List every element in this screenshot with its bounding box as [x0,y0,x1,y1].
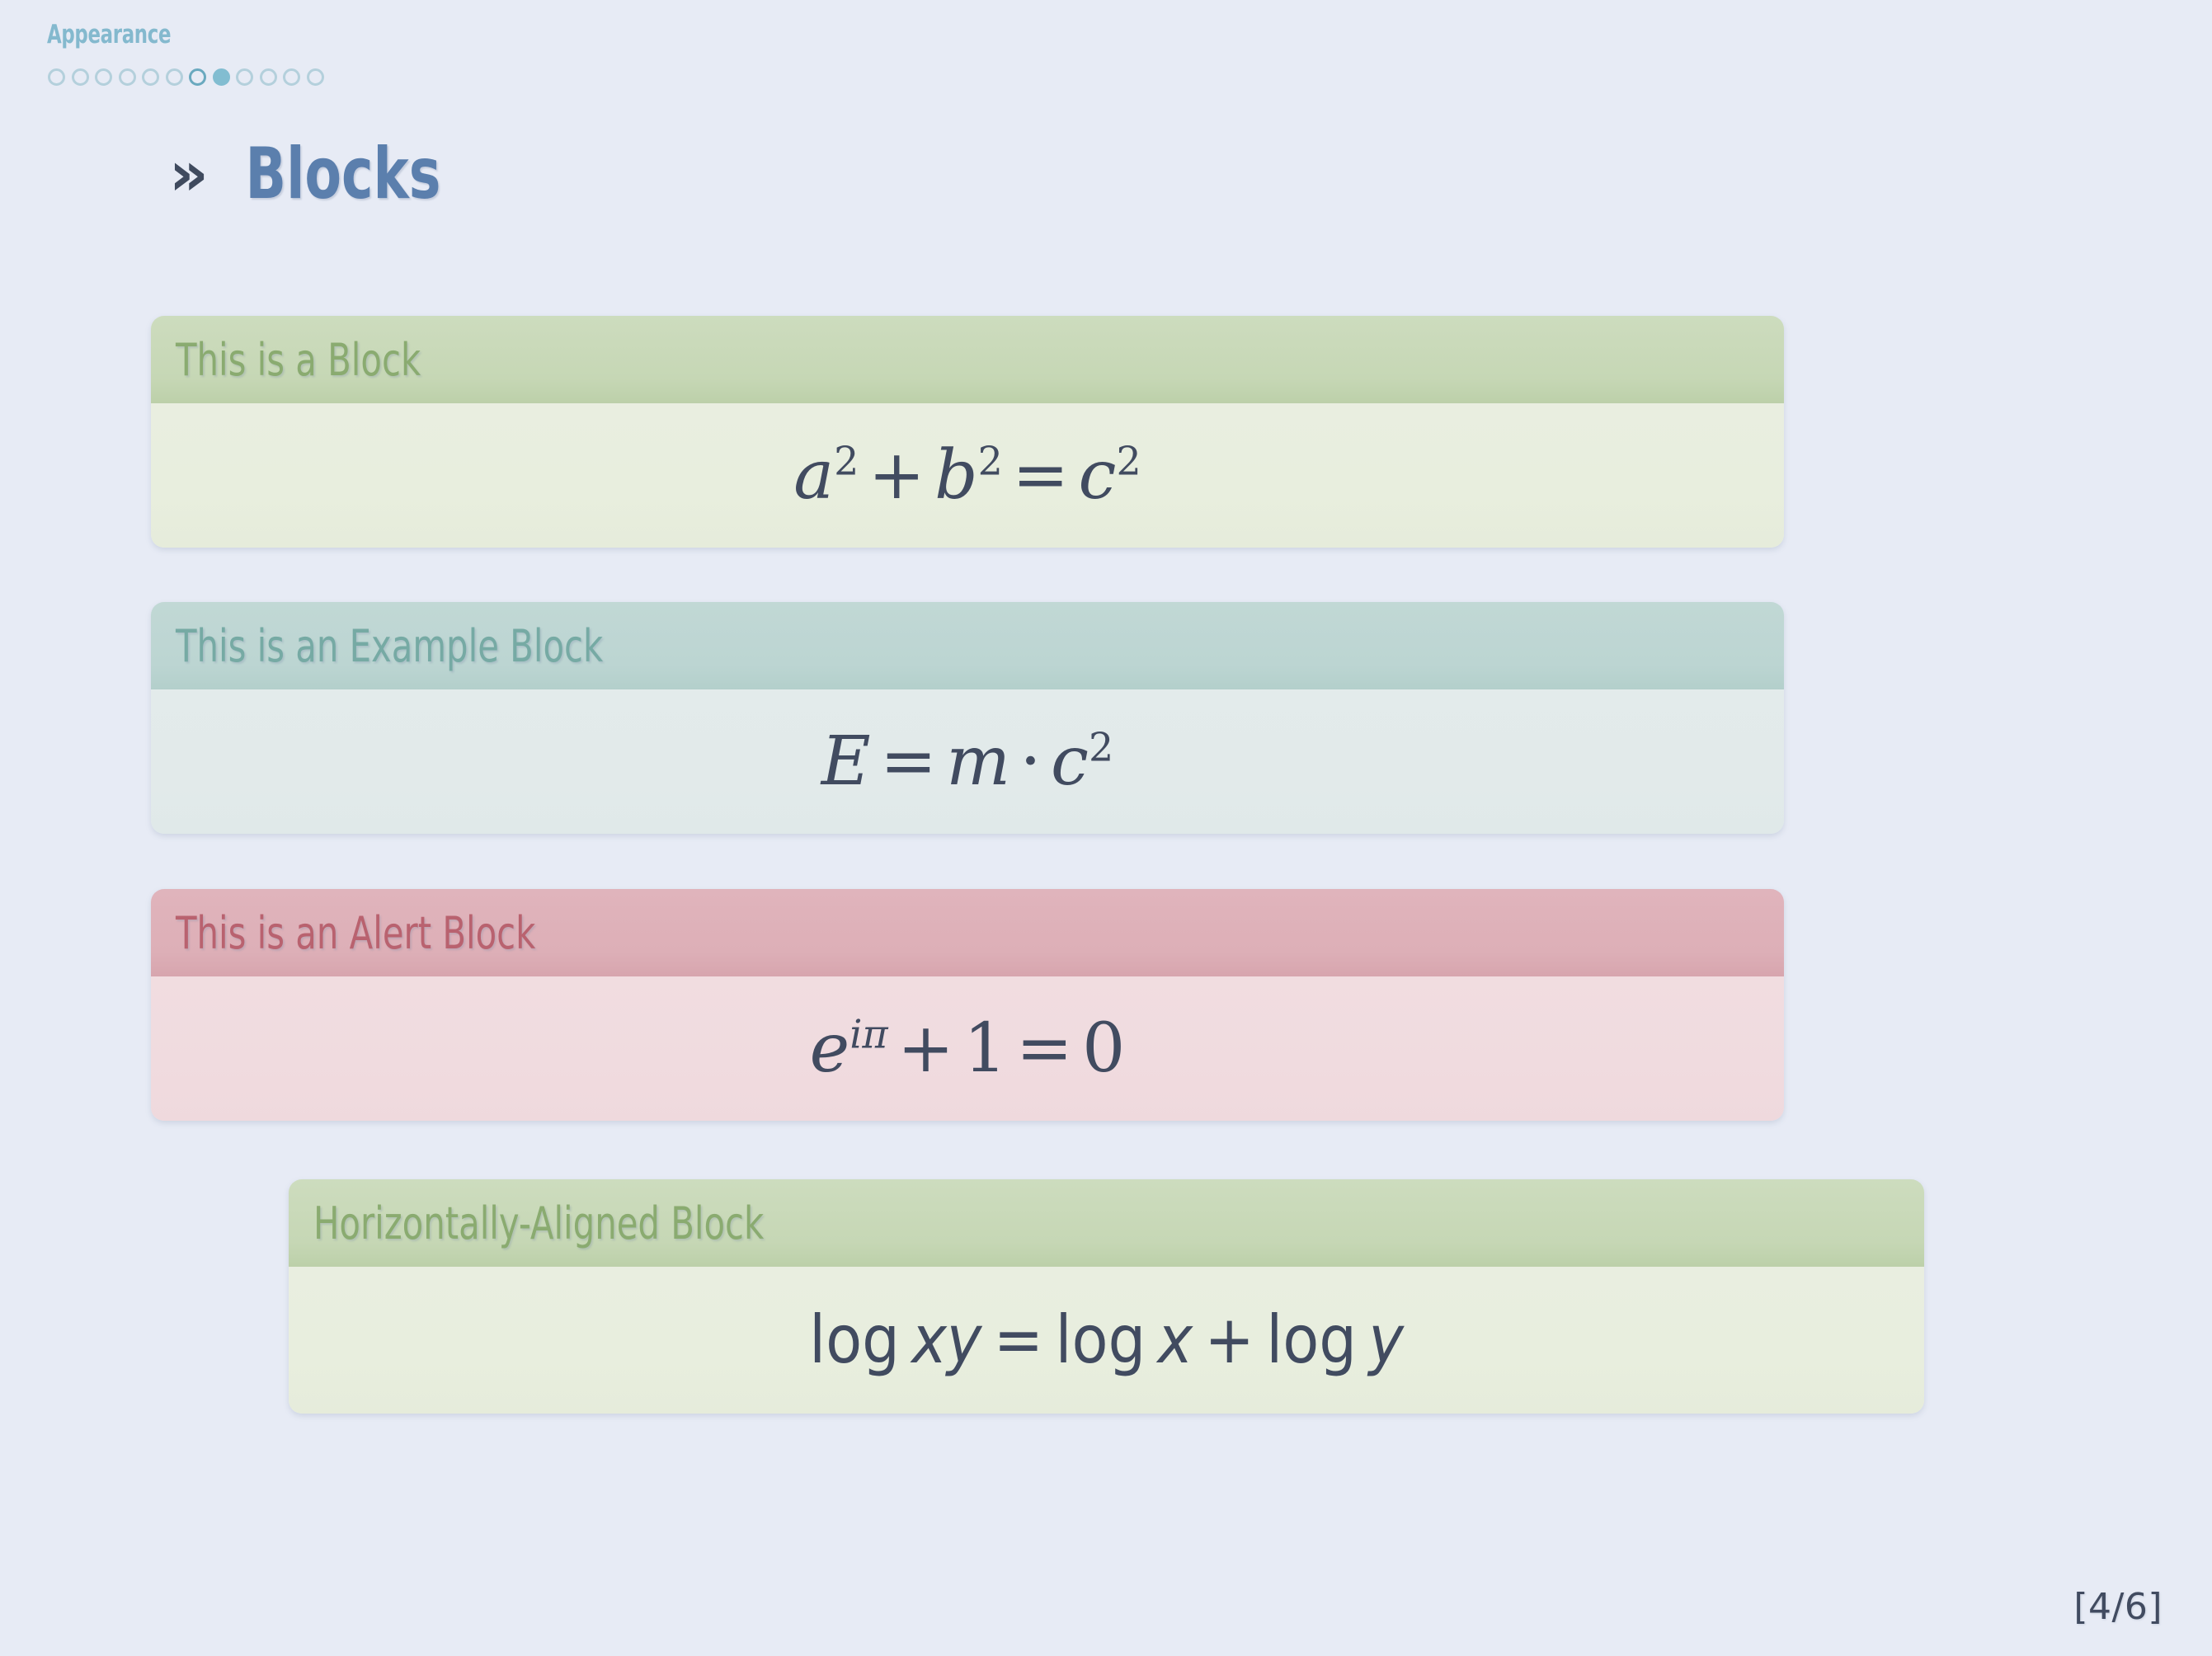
alert-block: This is an Alert Block eiπ+1=0 [151,889,1784,1121]
standard-block-title: This is a Block [151,316,1784,403]
nav-dot-7[interactable] [189,68,206,86]
example-block-title-text: This is an Example Block [176,624,603,669]
standard-block-body: a2+b2=c2 [151,403,1784,548]
example-block-title: This is an Example Block [151,602,1784,689]
alert-block-title: This is an Alert Block [151,889,1784,976]
standard-block-title-text: This is a Block [176,338,421,383]
nav-dot-11[interactable] [283,68,300,86]
alert-block-title-text: This is an Alert Block [176,911,535,956]
nav-dot-10[interactable] [260,68,277,86]
formula-logarithm-product: log xy=log x+log y [809,1307,1404,1373]
nav-dot-9[interactable] [236,68,253,86]
nav-dot-3[interactable] [95,68,112,86]
nav-dot-6[interactable] [166,68,183,86]
formula-pythagorean: a2+b2=c2 [793,442,1141,510]
nav-dot-1[interactable] [48,68,65,86]
alert-block-body: eiπ+1=0 [151,976,1784,1121]
formula-euler-identity: eiπ+1=0 [810,1015,1126,1083]
nav-dot-8-current[interactable] [213,68,230,86]
horizontally-aligned-block-title-text: Horizontally-Aligned Block [313,1202,764,1246]
horizontally-aligned-block: Horizontally-Aligned Block log xy=log x+… [289,1179,1924,1414]
nav-dot-4[interactable] [119,68,136,86]
frame-title: » Blocks [169,139,459,209]
slide-canvas: Appearance » Blocks This is a Block a2+b… [0,0,2212,1656]
nav-dot-12[interactable] [307,68,324,86]
navigation-section-label: Appearance [47,20,171,49]
example-block: This is an Example Block E=m·c2 [151,602,1784,834]
nav-dot-5[interactable] [142,68,159,86]
page-title: Blocks [245,139,440,209]
formula-mass-energy: E=m·c2 [821,728,1114,796]
horizontally-aligned-block-body: log xy=log x+log y [289,1267,1924,1414]
horizontally-aligned-block-title: Horizontally-Aligned Block [289,1179,1924,1267]
chevron-double-right-icon: » [169,143,209,205]
standard-block: This is a Block a2+b2=c2 [151,316,1784,548]
nav-dot-2[interactable] [72,68,89,86]
example-block-body: E=m·c2 [151,689,1784,834]
page-number: [4/6] [2073,1586,2163,1628]
navigation-dots[interactable] [48,68,324,86]
